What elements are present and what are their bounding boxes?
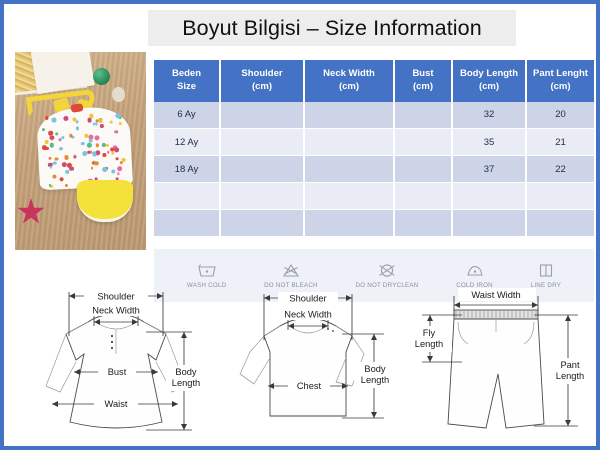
header-line-2: (cm) (550, 81, 570, 92)
dress-label-shoulder: Shoulder (97, 292, 134, 302)
cold-iron-icon (464, 262, 486, 279)
header-line-1: Beden (172, 68, 201, 79)
header-line-2: (cm) (339, 81, 359, 92)
header-line-1: Body Length (460, 68, 518, 79)
cell-bust (394, 210, 452, 237)
size-table-header: Beden Size Shoulder (cm) Neck Width (cm)… (154, 60, 594, 102)
size-information-page: Boyut Bilgisi – Size Information Beden S… (0, 0, 600, 450)
table-header-row: Beden Size Shoulder (cm) Neck Width (cm)… (154, 60, 594, 102)
cell-pant-length (526, 210, 594, 237)
photo-fruit-print (36, 106, 133, 191)
cell-neck-width (304, 102, 394, 129)
column-header-shoulder: Shoulder (cm) (220, 60, 304, 102)
cell-bust (394, 129, 452, 156)
pants-label-fly-length-line1: Fly (423, 328, 436, 338)
cell-pant-length: 22 (526, 156, 594, 183)
cell-neck-width (304, 210, 394, 237)
dress-measurement-diagram: Shoulder Neck Width Bust (26, 282, 206, 446)
cell-neck-width (304, 156, 394, 183)
pants-label-fly-length-line2: Length (415, 339, 443, 349)
do-not-bleach-icon (280, 262, 302, 279)
cell-size: 18 Ay (154, 156, 220, 183)
dress-label-waist: Waist (105, 399, 128, 409)
pants-label-pant-length-line2: Length (556, 371, 584, 381)
header-line-2: Size (177, 81, 196, 92)
page-title-bar: Boyut Bilgisi – Size Information (148, 10, 516, 46)
photo-green-pompom (93, 68, 110, 85)
pants-measurement-diagram: Waist Width Fly Length Pant Length (406, 282, 592, 446)
cell-shoulder (220, 129, 304, 156)
dress-label-body-length-line2: Length (172, 378, 200, 388)
cell-size (154, 183, 220, 210)
cell-pant-length: 20 (526, 102, 594, 129)
product-photo (15, 52, 146, 250)
cell-neck-width (304, 183, 394, 210)
header-line-1: Pant Lenght (533, 68, 588, 79)
header-line-2: (cm) (413, 81, 433, 92)
top-measurement-diagram: Shoulder Neck Width Chest (222, 282, 394, 446)
cell-size: 6 Ay (154, 102, 220, 129)
cell-body-length: 35 (452, 129, 526, 156)
cell-bust (394, 183, 452, 210)
cell-body-length (452, 183, 526, 210)
wash-cold-icon (196, 262, 218, 279)
cell-bust (394, 156, 452, 183)
column-header-beden-size: Beden Size (154, 60, 220, 102)
column-header-pant-length: Pant Lenght (cm) (526, 60, 594, 102)
header-line-2: (cm) (479, 81, 499, 92)
table-row (154, 183, 594, 210)
dress-label-neck-width: Neck Width (92, 306, 140, 316)
top-label-shoulder: Shoulder (289, 294, 326, 304)
column-header-bust: Bust (cm) (394, 60, 452, 102)
cell-bust (394, 102, 452, 129)
cell-shoulder (220, 102, 304, 129)
top-label-body-length-line2: Length (361, 375, 389, 385)
photo-printed-dress (36, 106, 133, 191)
cell-body-length (452, 210, 526, 237)
cell-pant-length: 21 (526, 129, 594, 156)
pants-label-pant-length-line1: Pant (560, 360, 580, 370)
size-table: Beden Size Shoulder (cm) Neck Width (cm)… (154, 60, 594, 237)
cell-size (154, 210, 220, 237)
table-row: 12 Ay3521 (154, 129, 594, 156)
measurement-diagrams: Shoulder Neck Width Bust (10, 282, 594, 446)
table-row: 18 Ay3722 (154, 156, 594, 183)
table-row: 6 Ay3220 (154, 102, 594, 129)
column-header-neck-width: Neck Width (cm) (304, 60, 394, 102)
dress-label-body-length-line1: Body (175, 367, 197, 377)
line-dry-icon (535, 262, 557, 279)
page-title: Boyut Bilgisi – Size Information (182, 16, 482, 41)
header-line-1: Bust (412, 68, 433, 79)
table-row (154, 210, 594, 237)
cell-size: 12 Ay (154, 129, 220, 156)
size-table-body: 6 Ay322012 Ay352118 Ay3722 (154, 102, 594, 237)
cell-body-length: 37 (452, 156, 526, 183)
header-line-1: Shoulder (241, 68, 282, 79)
cell-body-length: 32 (452, 102, 526, 129)
header-line-1: Neck Width (323, 68, 375, 79)
cell-shoulder (220, 156, 304, 183)
cell-shoulder (220, 183, 304, 210)
photo-pebble (112, 87, 125, 102)
dress-label-bust: Bust (108, 367, 127, 377)
top-label-neck-width: Neck Width (284, 310, 332, 320)
cell-shoulder (220, 210, 304, 237)
cell-pant-length (526, 183, 594, 210)
header-line-2: (cm) (252, 81, 272, 92)
top-label-chest: Chest (297, 381, 322, 391)
column-header-body-length: Body Length (cm) (452, 60, 526, 102)
cell-neck-width (304, 129, 394, 156)
pants-label-waist-width: Waist Width (471, 290, 520, 300)
do-not-dryclean-icon (376, 262, 398, 279)
top-label-body-length-line1: Body (364, 364, 386, 374)
